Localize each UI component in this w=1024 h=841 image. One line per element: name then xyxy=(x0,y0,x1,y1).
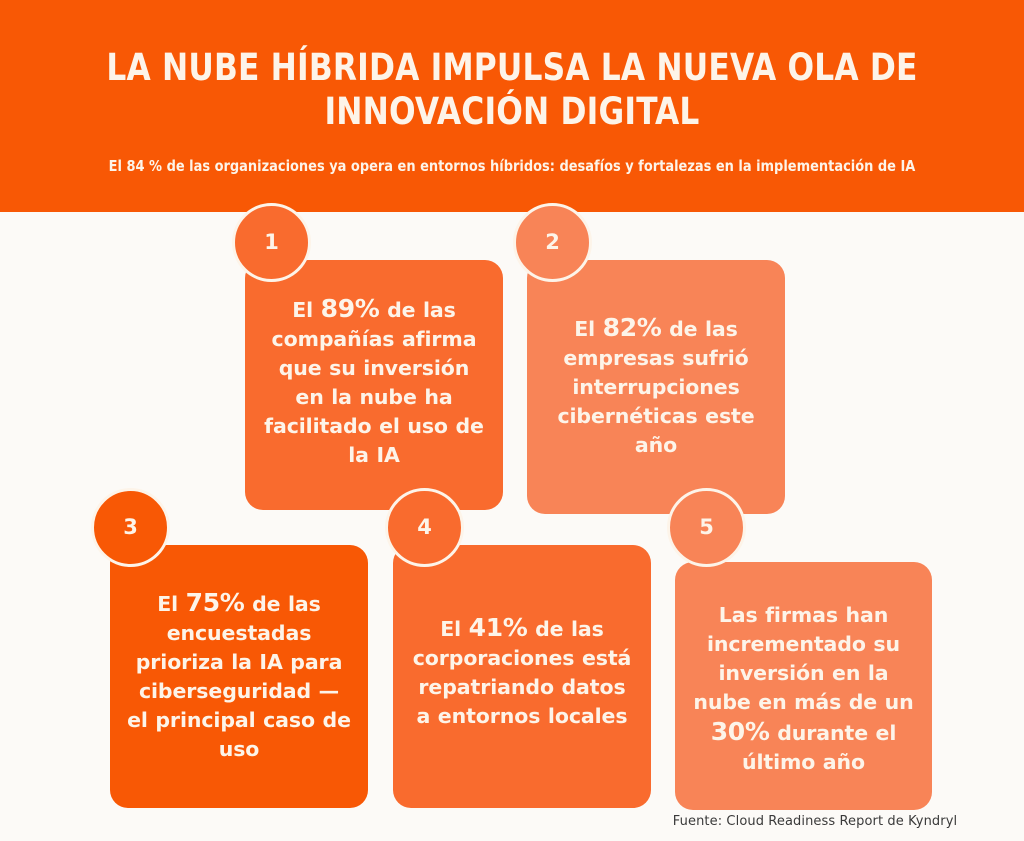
stat-card-3-text: El 75% de las encuestadas prioriza la IA… xyxy=(110,545,368,764)
stat-card-2-text: El 82% de las empresas sufrió interrupci… xyxy=(527,260,785,460)
stat-card-2-pre: El xyxy=(574,317,602,341)
stat-card-4-value: 41% xyxy=(469,613,528,642)
stat-card-2-number: 2 xyxy=(545,232,560,253)
stat-card-2-value: 82% xyxy=(603,313,662,342)
infographic-canvas: LA NUBE HÍBRIDA IMPULSA LA NUEVA OLA DE … xyxy=(0,0,1024,841)
page-title: LA NUBE HÍBRIDA IMPULSA LA NUEVA OLA DE … xyxy=(87,46,937,134)
stat-card-3-value: 75% xyxy=(186,588,245,617)
stat-card-5-value: 30% xyxy=(711,717,770,746)
stat-card-1-number-badge: 1 xyxy=(232,203,311,282)
stat-card-1: El 89% de las compañías afirma que su in… xyxy=(245,260,503,510)
stat-card-5-pre: Las firmas han incrementado su inversión… xyxy=(693,603,913,714)
stat-card-2: El 82% de las empresas sufrió interrupci… xyxy=(527,260,785,514)
stat-card-1-number: 1 xyxy=(264,232,279,253)
stat-card-2-number-badge: 2 xyxy=(513,203,592,282)
page-subtitle: El 84 % de las organizaciones ya opera e… xyxy=(73,156,951,176)
stat-card-4: El 41% de las corporaciones está repatri… xyxy=(393,545,651,808)
stat-card-5-text: Las firmas han incrementado su inversión… xyxy=(675,562,932,777)
stat-card-4-pre: El xyxy=(440,617,468,641)
stat-card-3-post: de las encuestadas prioriza la IA para c… xyxy=(127,592,351,761)
source-attribution: Fuente: Cloud Readiness Report de Kyndry… xyxy=(620,814,1010,830)
stat-card-1-pre: El xyxy=(292,298,320,322)
stat-card-1-value: 89% xyxy=(321,294,380,323)
stat-card-1-text: El 89% de las compañías afirma que su in… xyxy=(245,260,503,470)
stat-card-1-post: de las compañías afirma que su inversión… xyxy=(264,298,484,467)
stat-card-3-pre: El xyxy=(157,592,185,616)
stat-card-5-number-badge: 5 xyxy=(667,488,746,567)
stat-card-3: El 75% de las encuestadas prioriza la IA… xyxy=(110,545,368,808)
stat-card-4-text: El 41% de las corporaciones está repatri… xyxy=(393,545,651,731)
stat-card-3-number: 3 xyxy=(123,517,138,538)
stat-card-4-number: 4 xyxy=(417,517,432,538)
stat-card-5: Las firmas han incrementado su inversión… xyxy=(675,562,932,810)
stat-card-5-number: 5 xyxy=(699,517,714,538)
stat-card-3-number-badge: 3 xyxy=(91,488,170,567)
stat-card-4-number-badge: 4 xyxy=(385,488,464,567)
